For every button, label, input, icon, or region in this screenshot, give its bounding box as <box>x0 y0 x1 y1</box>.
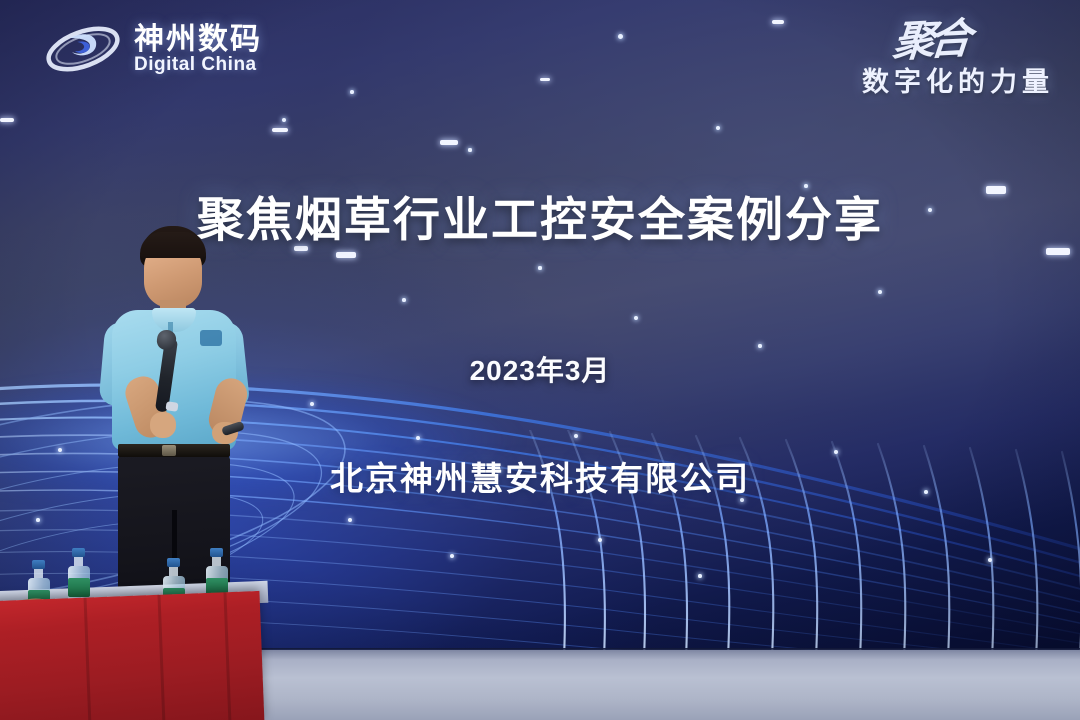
particle-dot <box>716 126 720 130</box>
bottle-neck <box>34 569 43 578</box>
speaker-belt-buckle <box>162 445 176 456</box>
particle-dot <box>402 298 406 302</box>
logo-name-cn: 神州数码 <box>134 23 262 56</box>
bottle-neck <box>212 557 221 566</box>
red-table-cloth <box>0 591 264 720</box>
particle-dot <box>618 34 623 39</box>
bottle-label <box>68 578 90 597</box>
bottle-cap <box>72 548 85 557</box>
bottle-neck <box>169 567 178 576</box>
speaker-hand-left <box>150 412 176 438</box>
cloth-fold <box>223 592 231 720</box>
conference-photo: 神州数码 Digital China 聚合 数字化的力量 聚焦烟草行业工控安全案… <box>0 0 1080 720</box>
particle-dot <box>574 434 578 438</box>
digital-china-logo: 神州数码 Digital China <box>44 18 262 80</box>
particle-dot <box>282 118 286 122</box>
logo-name-en: Digital China <box>134 54 257 75</box>
particle-streak <box>0 118 14 122</box>
cloth-fold <box>157 595 165 720</box>
particle-dot <box>468 148 471 151</box>
bottle-cap <box>167 558 180 567</box>
particle-streak <box>540 78 550 81</box>
event-slogan: 聚合 数字化的力量 <box>754 16 1054 99</box>
particle-dot <box>538 266 541 269</box>
particle-dot <box>698 574 702 578</box>
particle-streak <box>440 140 458 145</box>
slogan-subtitle: 数字化的力量 <box>754 60 1054 99</box>
bottle-neck <box>74 557 83 566</box>
particle-dot <box>988 558 992 562</box>
particle-dot <box>36 518 40 522</box>
microphone-tip <box>165 401 178 412</box>
particle-dot <box>350 90 354 94</box>
particle-dot <box>758 344 761 347</box>
bottle-cap <box>210 548 223 557</box>
digital-china-wordmark: 神州数码 Digital China <box>134 25 262 74</box>
bottle-cap <box>32 560 45 569</box>
particle-streak <box>272 128 288 132</box>
particle-dot <box>450 554 454 558</box>
particle-dot <box>634 316 638 320</box>
cloth-fold <box>84 598 92 720</box>
digital-china-swirl-icon <box>44 18 122 80</box>
particle-streak <box>336 252 356 258</box>
speaker-hair-front <box>140 232 206 258</box>
shirt-chest-logo <box>200 330 222 346</box>
particle-dot <box>878 290 882 294</box>
